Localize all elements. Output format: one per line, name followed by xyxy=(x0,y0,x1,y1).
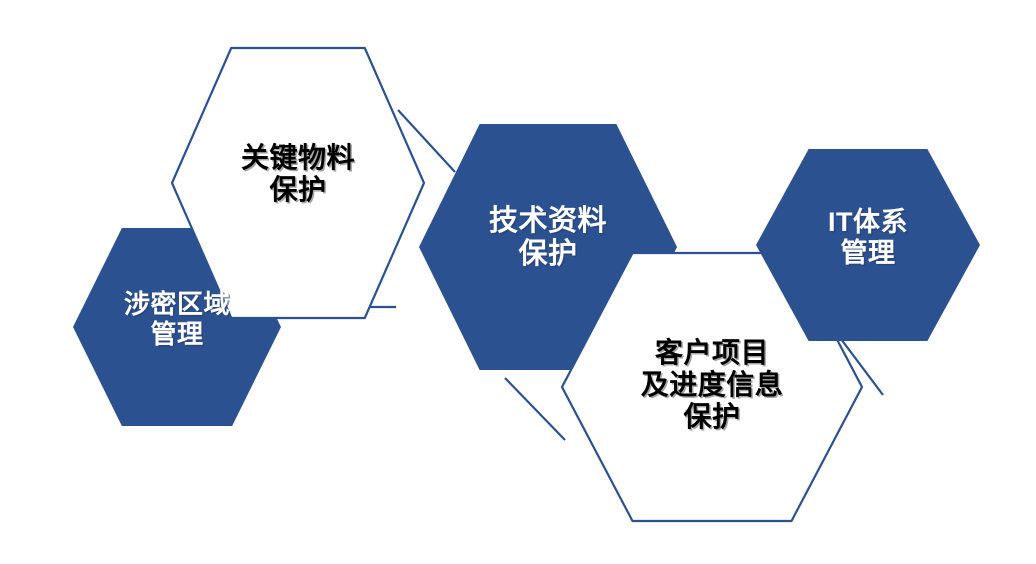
hexagon-canvas xyxy=(0,0,1036,564)
hexagon-shape-layer xyxy=(73,48,980,521)
connector-node3-to-node4 xyxy=(505,378,565,440)
hexagon-diagram: 涉密区域 管理关键物料 保护技术资料 保护客户项目 及进度信息 保护IT体系 管… xyxy=(0,0,1036,564)
